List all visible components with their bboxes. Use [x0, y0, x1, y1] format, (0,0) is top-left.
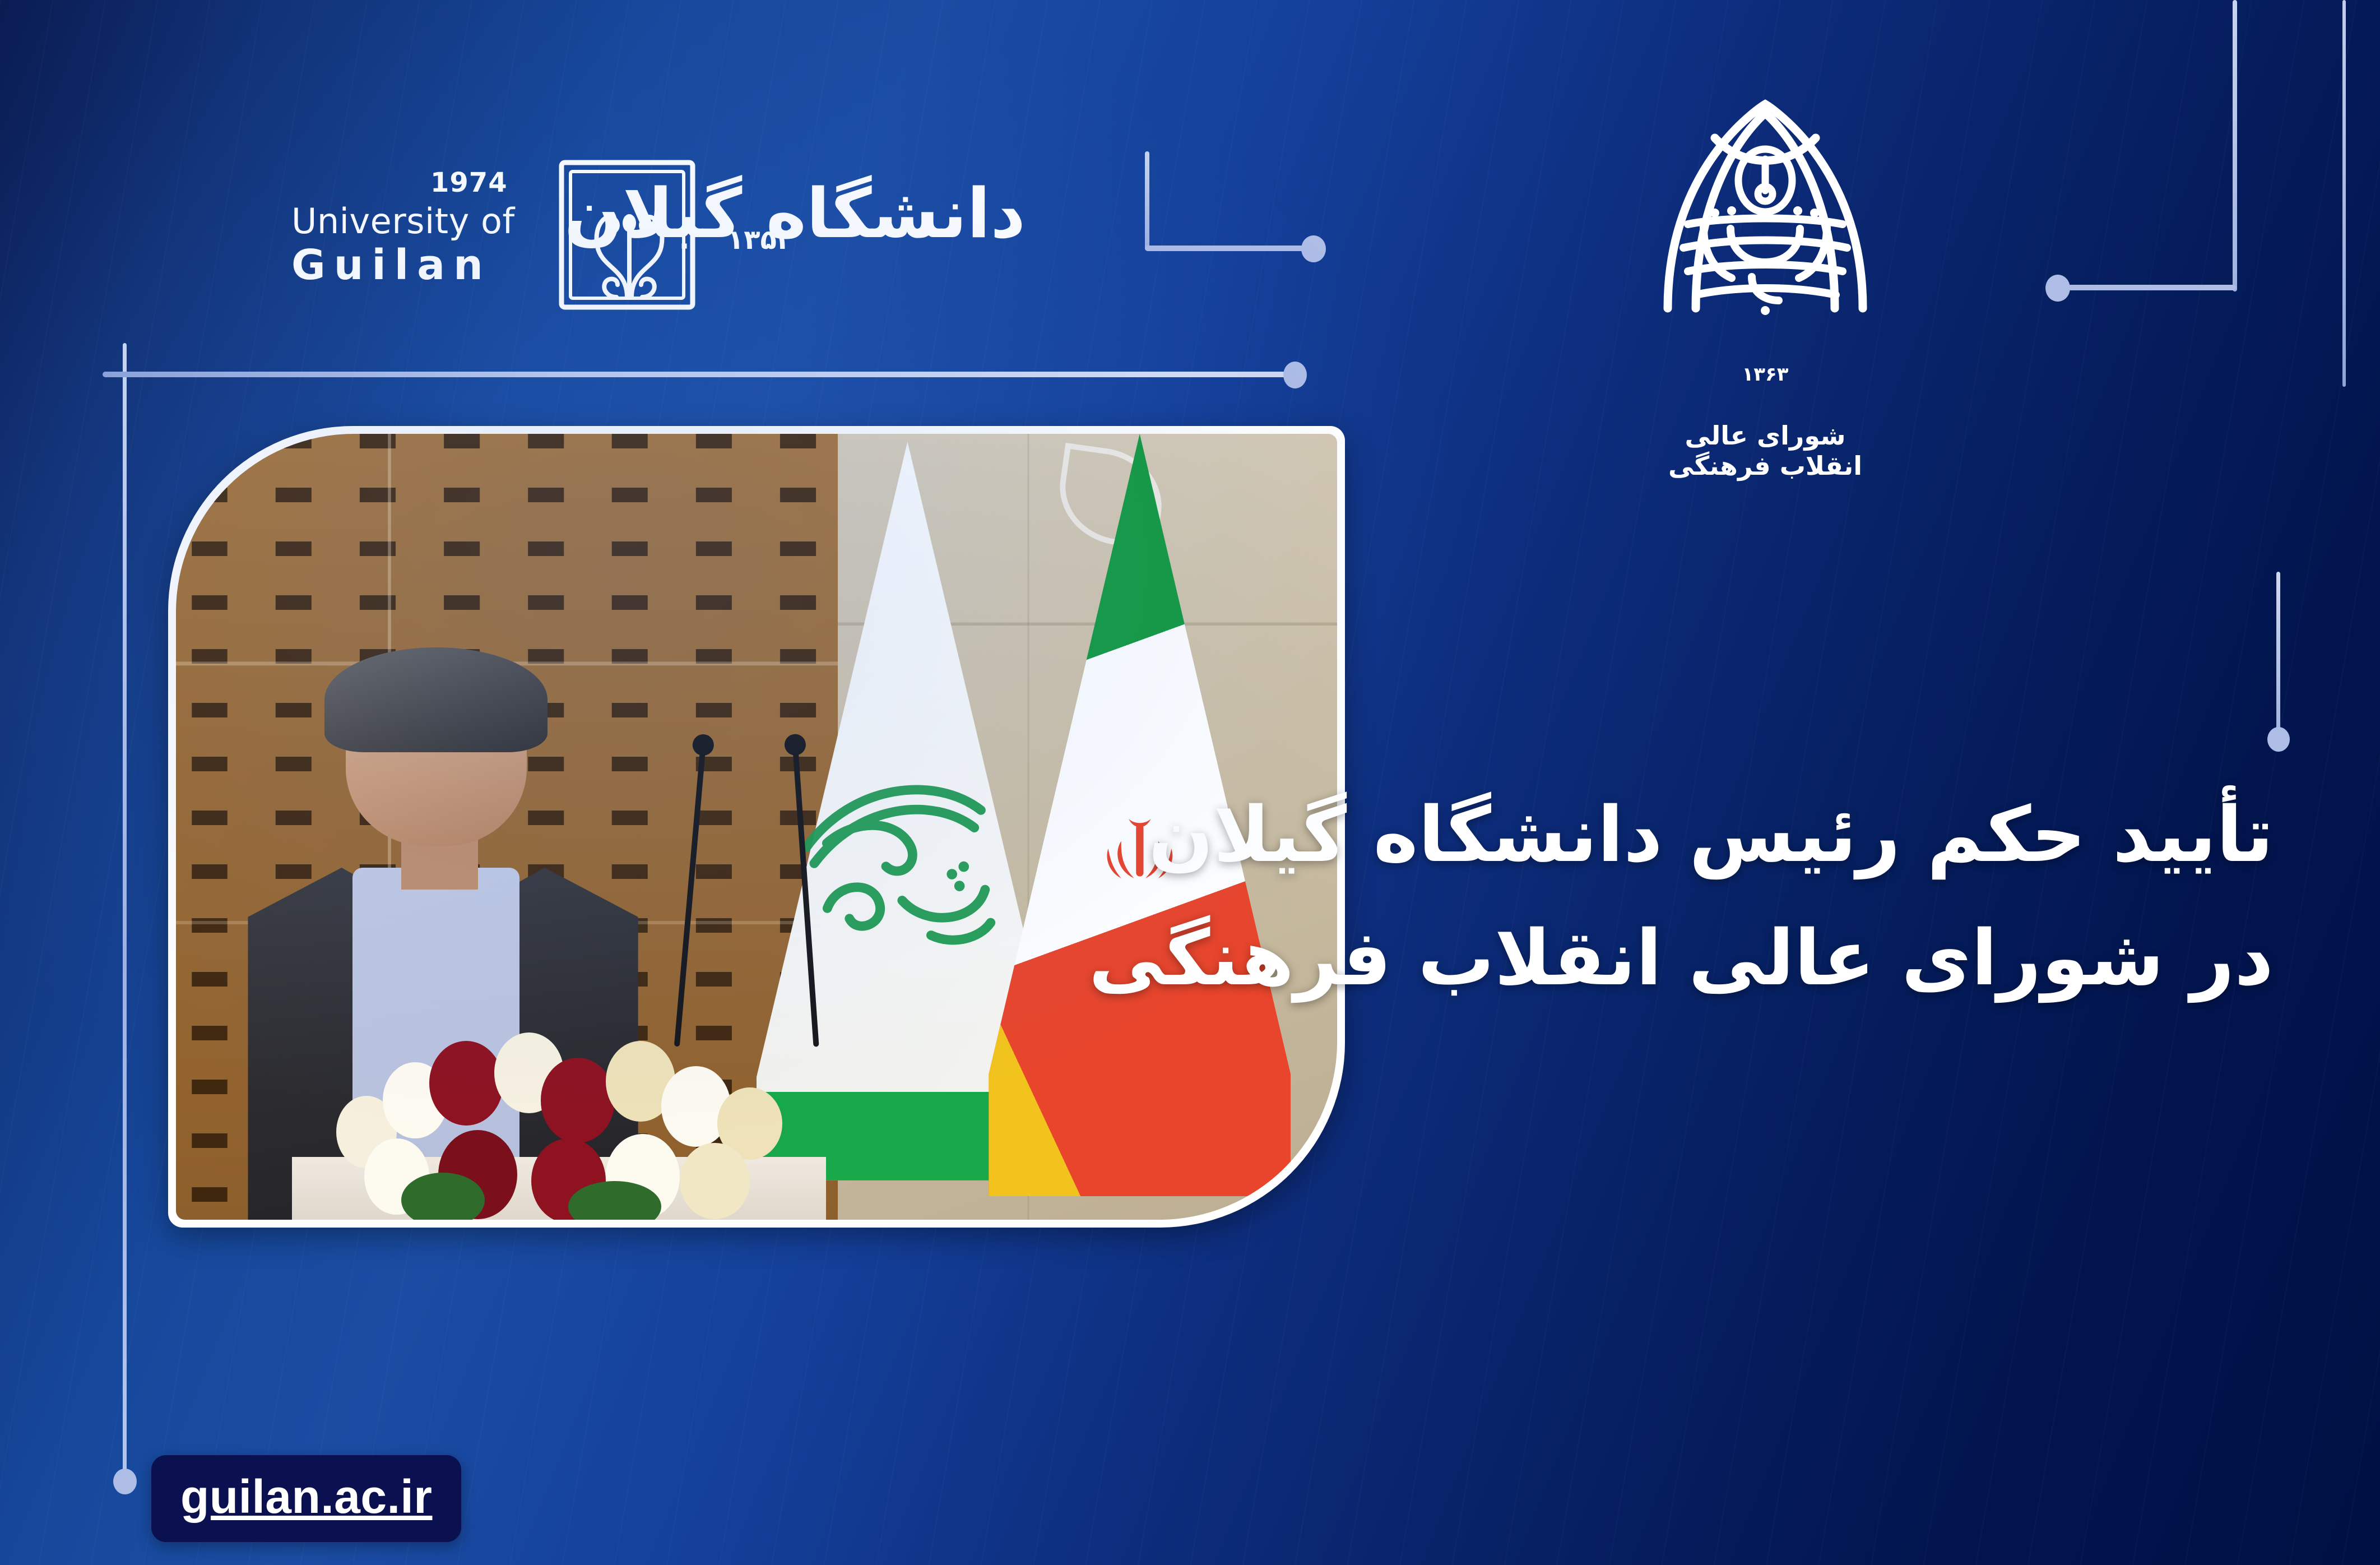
speaker-hair — [324, 647, 548, 752]
decorative-dot-right — [2045, 275, 2070, 302]
decorative-horizontal-line-left — [103, 372, 1287, 377]
flower-bouquet — [327, 1015, 791, 1220]
council-year: ۱۳۶۳ — [1648, 363, 1883, 386]
council-caption: شورای عالی انقلاب فرهنگی — [1648, 420, 1883, 481]
decorative-vertical-line-right-mid — [2276, 572, 2280, 740]
supreme-council-logo: ۱۳۶۳ شورای عالی انقلاب فرهنگی — [1648, 84, 1883, 476]
website-url-badge[interactable]: guilan.ac.ir — [151, 1455, 461, 1542]
logo-university-word: University of — [291, 204, 515, 239]
logo-name-persian: دانشگاه گیلان — [564, 174, 1026, 253]
decorative-vertical-line-mid — [1145, 151, 1149, 249]
decorative-horizontal-line-mid — [1145, 246, 1307, 251]
news-banner: 1974 University of Guilan ۱۳۵۳ دانشگاه گ… — [0, 0, 2380, 1565]
decorative-dot-mid — [1301, 235, 1326, 262]
decorative-horizontal-line-right — [2068, 285, 2236, 290]
council-dome-icon — [1648, 84, 1883, 361]
decorative-dot-bottom-left — [113, 1469, 137, 1494]
page-title: تأیید حکم رئیس دانشگاه گیلان در شورای عا… — [1248, 774, 2274, 1021]
headline-line-1: تأیید حکم رئیس دانشگاه گیلان — [1248, 774, 2274, 897]
decorative-vertical-line-right — [2233, 0, 2237, 291]
university-of-guilan-logo: 1974 University of Guilan ۱۳۵۳ دانشگاه گ… — [291, 157, 1026, 314]
logo-year-gregorian: 1974 — [430, 167, 508, 198]
logo-guilan-word: Guilan — [291, 244, 515, 286]
decorative-vertical-line-left — [123, 343, 127, 1476]
decorative-dot-right-mid — [2267, 727, 2290, 752]
headline-line-2: در شورای عالی انقلاب فرهنگی — [1248, 897, 2274, 1020]
decorative-dot-left — [1283, 362, 1307, 388]
guilan-flag-calligraphy-icon — [781, 683, 1023, 1034]
decorative-edge-line-right — [2342, 0, 2346, 387]
logo-name-english: University of Guilan — [291, 204, 515, 286]
